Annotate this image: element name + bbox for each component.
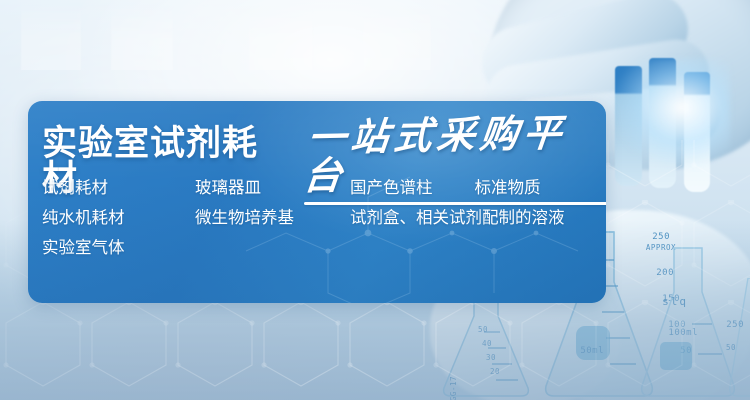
promo-content-panel: 实验室试剂耗材 一站式采购平台 试剂耗材 玻璃器皿 国产色谱柱 标准物质 纯水机… [28,101,606,303]
category-grid: 试剂耗材 玻璃器皿 国产色谱柱 标准物质 纯水机耗材 微生物培养基 试剂盒、相关… [42,177,602,259]
category-item-reagent-kits-and-solutions[interactable]: 试剂盒、相关试剂配制的溶液 [350,207,602,229]
category-item-reference-material[interactable]: 标准物质 [475,177,541,199]
category-item-glassware[interactable]: 玻璃器皿 [195,177,350,199]
category-item-microbial-culture-media[interactable]: 微生物培养基 [195,207,350,229]
category-grid-spacer-a [195,237,350,259]
category-item-laboratory-gas[interactable]: 实验室气体 [42,237,195,259]
category-item-water-purifier-consumables[interactable]: 纯水机耗材 [42,207,195,229]
category-item-reagent-consumables[interactable]: 试剂耗材 [42,177,195,199]
category-row1-right-pair: 国产色谱柱 标准物质 [350,177,602,199]
lab-supplies-banner: 250 APPROX 200 150 100 50 GG-17 50ml GG-… [0,0,750,400]
category-item-domestic-chromatography-column[interactable]: 国产色谱柱 [350,177,433,199]
category-grid-spacer-b [350,237,602,259]
